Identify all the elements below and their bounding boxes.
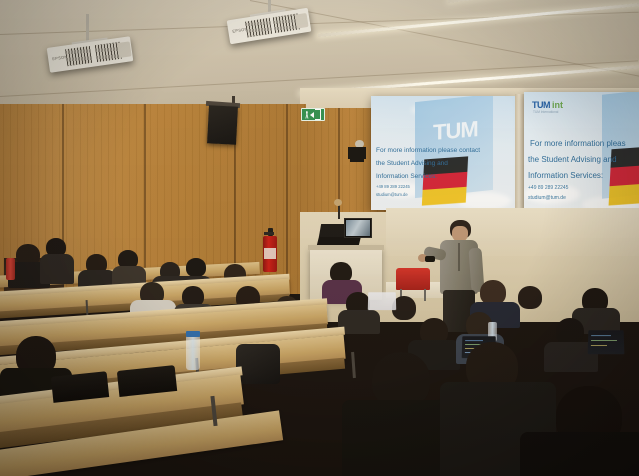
- screen-divider: [515, 94, 524, 212]
- slide-phone: +49 89 289 22245: [376, 184, 410, 190]
- student-head: [556, 318, 584, 345]
- logo-tum-text: TUM: [532, 100, 550, 110]
- student-head: [518, 286, 542, 309]
- logo-subtitle: TUM International: [533, 110, 558, 114]
- slide-line-1: For more information please contact: [376, 146, 480, 155]
- water-bottle: [6, 258, 15, 280]
- backpack: [236, 344, 280, 384]
- slide-line-2: the Student Advising and: [376, 159, 448, 168]
- projection-screen-left: TUM For more information please contact …: [371, 96, 515, 210]
- slide-phone: +49 89 289 22245: [528, 185, 568, 193]
- slide-line-3: Information Services:: [376, 172, 437, 181]
- slide-line-2: the Student Advising and: [528, 154, 617, 166]
- projector-brand-label: EPSON: [232, 26, 248, 33]
- student-body: [520, 432, 639, 476]
- projector-brand-label: EPSON: [52, 54, 68, 61]
- logo-int-text: int: [552, 100, 563, 110]
- slide-line-3: Information Services:: [528, 170, 603, 182]
- projection-screen-right: TUM int TUM International For more infor…: [524, 92, 639, 212]
- tum-int-logo: TUM int: [532, 100, 563, 110]
- red-chair: [396, 268, 430, 290]
- lecture-hall-photo: EPSON EPSON: [0, 0, 639, 476]
- exit-arrow-icon: [310, 112, 314, 118]
- exit-sign: [301, 108, 325, 121]
- exit-door-icon: [315, 109, 321, 120]
- student-laptop[interactable]: [588, 330, 625, 354]
- student-body: [40, 254, 74, 284]
- exit-running-man-icon: [305, 111, 309, 119]
- slide-line-1: For more information pleas: [530, 138, 626, 150]
- tum-flag-watermark: TUM: [433, 116, 478, 146]
- slide-email: studium@tum.de: [528, 195, 566, 203]
- presenter-clicker: [425, 256, 435, 262]
- water-bottle: [186, 336, 200, 370]
- confidence-monitor: [344, 218, 372, 238]
- student-laptop[interactable]: [368, 292, 396, 310]
- slide-email: studium@tum.de: [376, 192, 408, 198]
- student-head: [186, 258, 206, 277]
